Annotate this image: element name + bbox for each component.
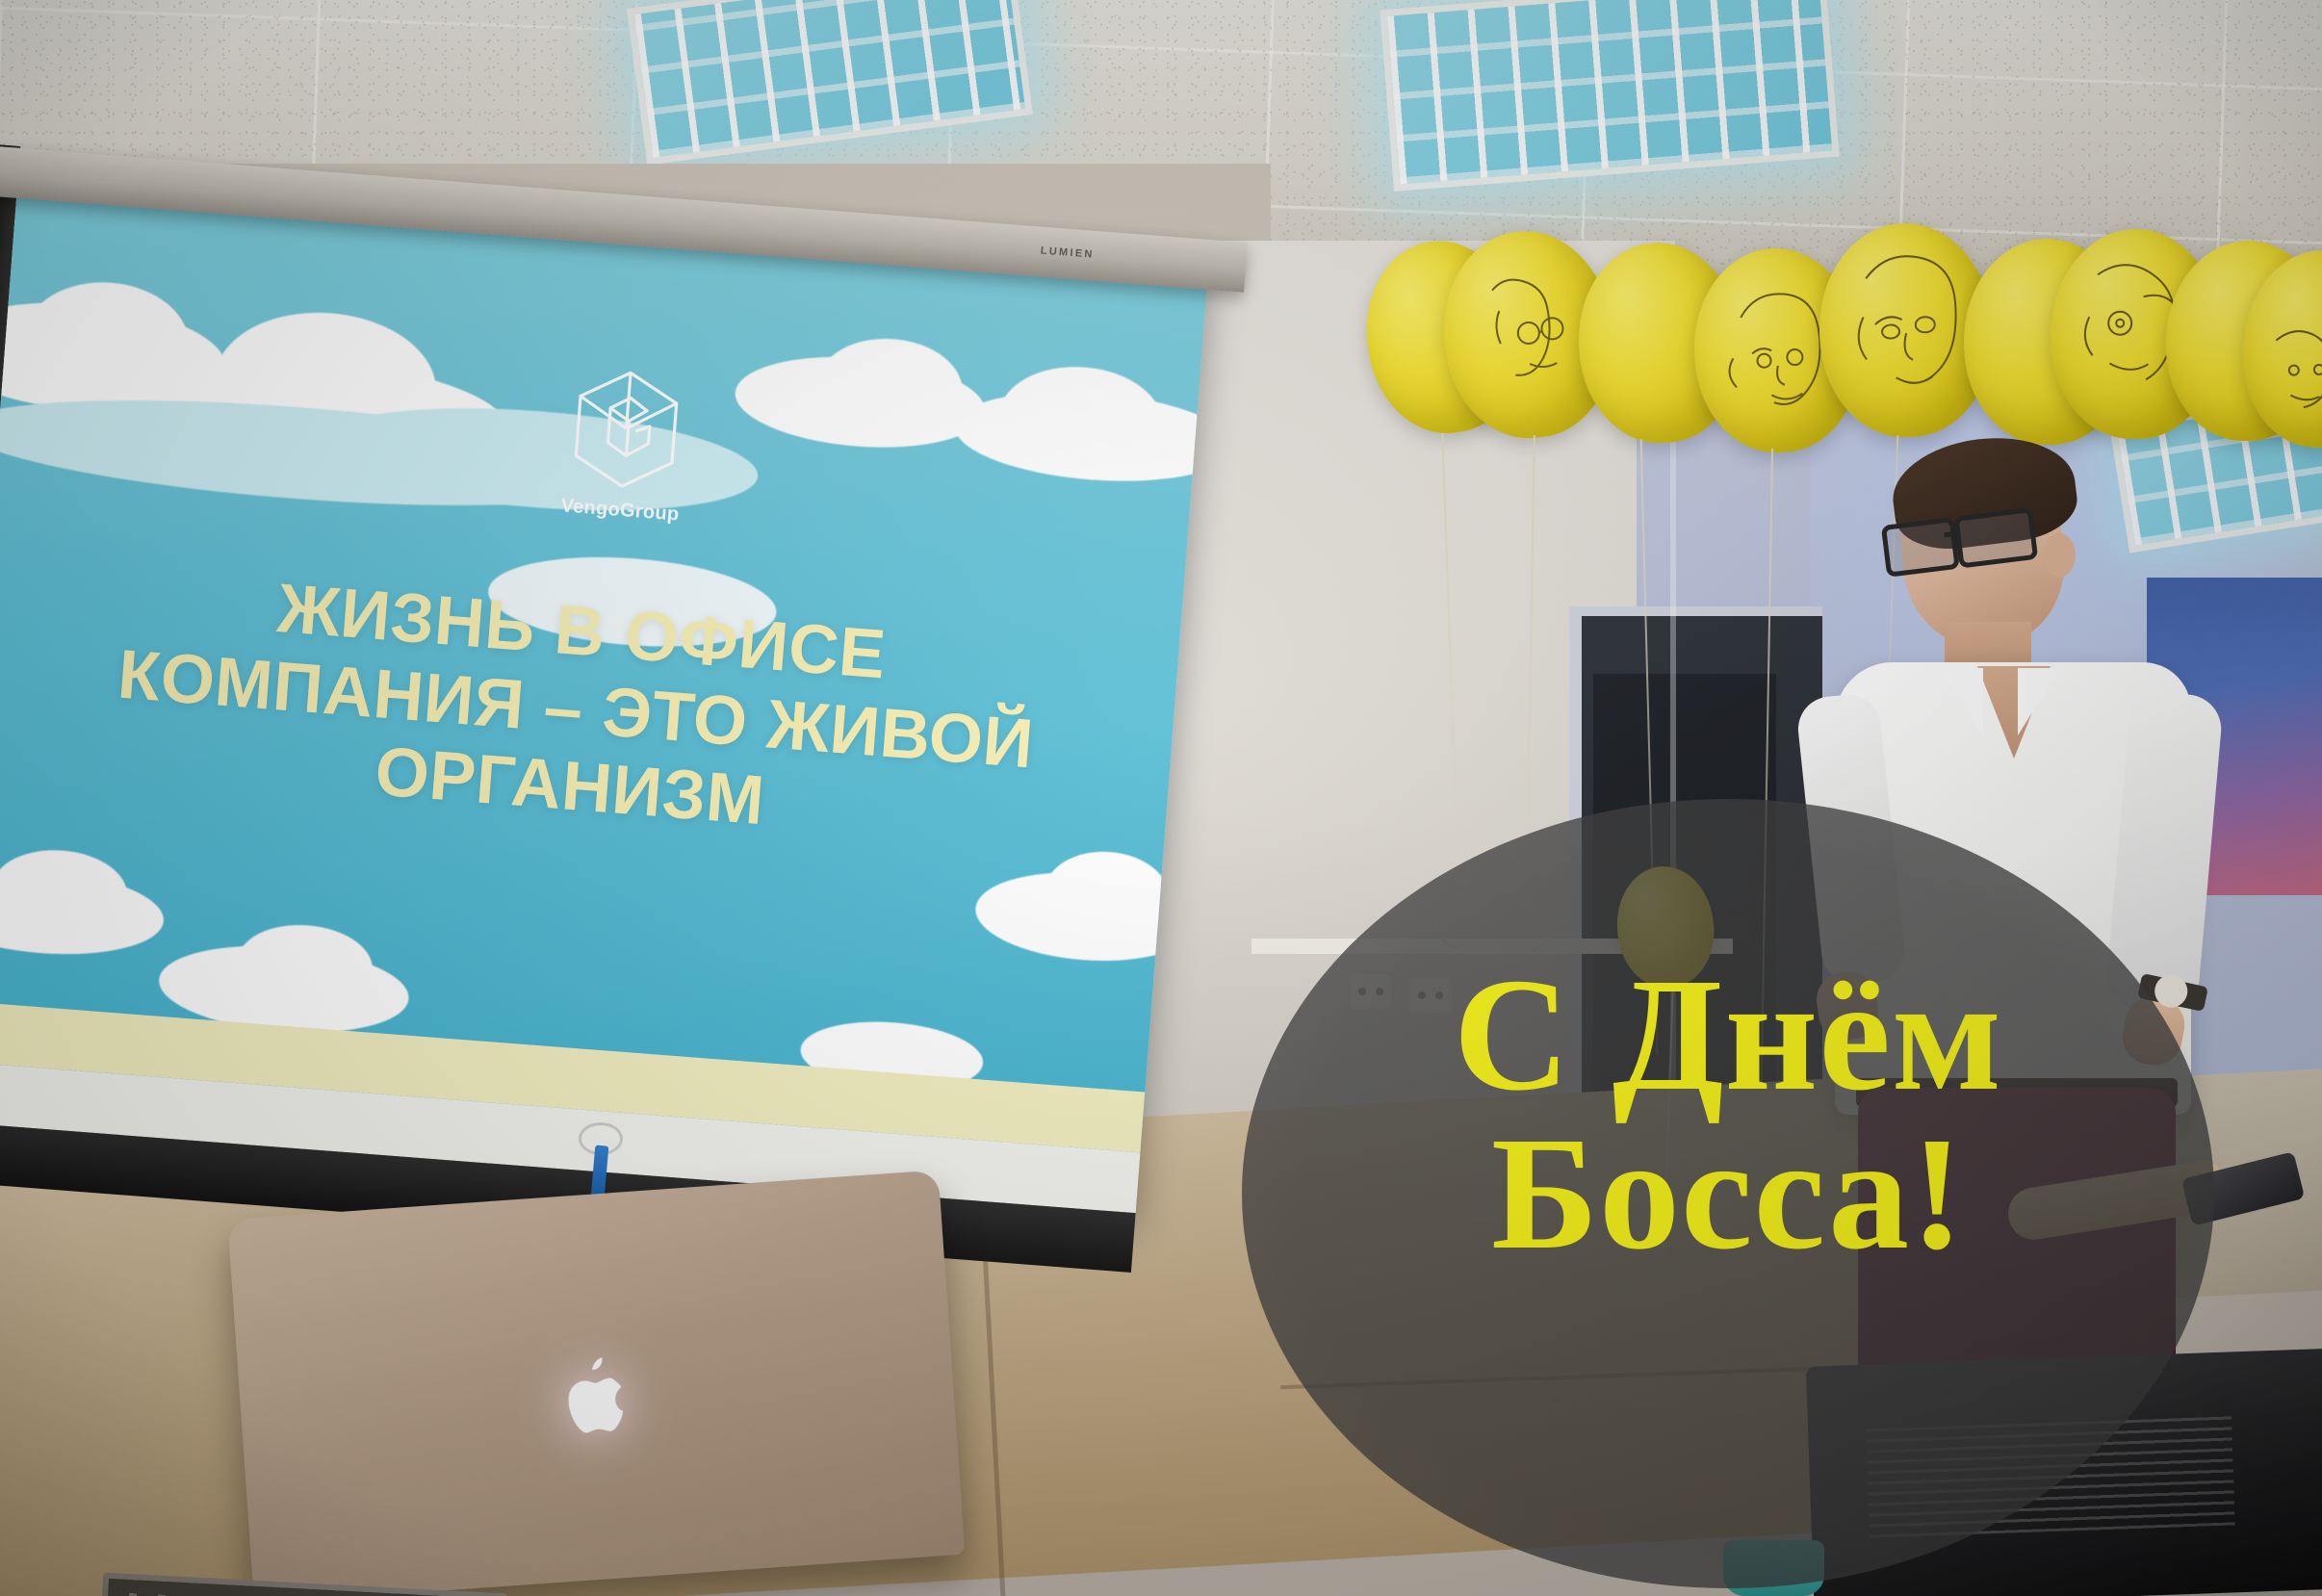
drawn-face-icon bbox=[2238, 246, 2322, 451]
powerpoint-slide: VengoGroup ЖИЗНЬ В ОФИСЕ КОМПАНИЯ – ЭТО … bbox=[0, 193, 1207, 1152]
greeting-line-2: Босса! bbox=[1251, 1112, 2205, 1276]
macbook-laptop bbox=[227, 1169, 985, 1596]
screen-brand-label: LUMIEN bbox=[1040, 245, 1095, 261]
screen-surface: PowerPoint Файл Правка Вид Вставка Форма… bbox=[0, 162, 1209, 1213]
glasses-lens-left bbox=[1881, 517, 1960, 578]
slide-title: ЖИЗНЬ В ОФИСЕ КОМПАНИЯ – ЭТО ЖИВОЙ ОРГАН… bbox=[29, 552, 1122, 866]
shirt-collar-left bbox=[1941, 668, 1983, 735]
vengogroup-cube-logo bbox=[564, 363, 689, 497]
ear bbox=[2043, 533, 2076, 578]
glasses-lens-right bbox=[1953, 507, 2038, 569]
projection-screen: PowerPoint Файл Правка Вид Вставка Форма… bbox=[0, 162, 1209, 1213]
shirt-collar-right bbox=[2018, 668, 2060, 735]
apple-logo bbox=[555, 1353, 638, 1447]
balloon-with-face bbox=[2238, 246, 2322, 451]
greeting-line-1: С Днём bbox=[1454, 945, 2003, 1124]
greeting-card-image: PowerPoint Файл Правка Вид Вставка Форма… bbox=[0, 0, 2322, 1596]
greeting-text: С Днём Босса! bbox=[1251, 953, 2205, 1277]
